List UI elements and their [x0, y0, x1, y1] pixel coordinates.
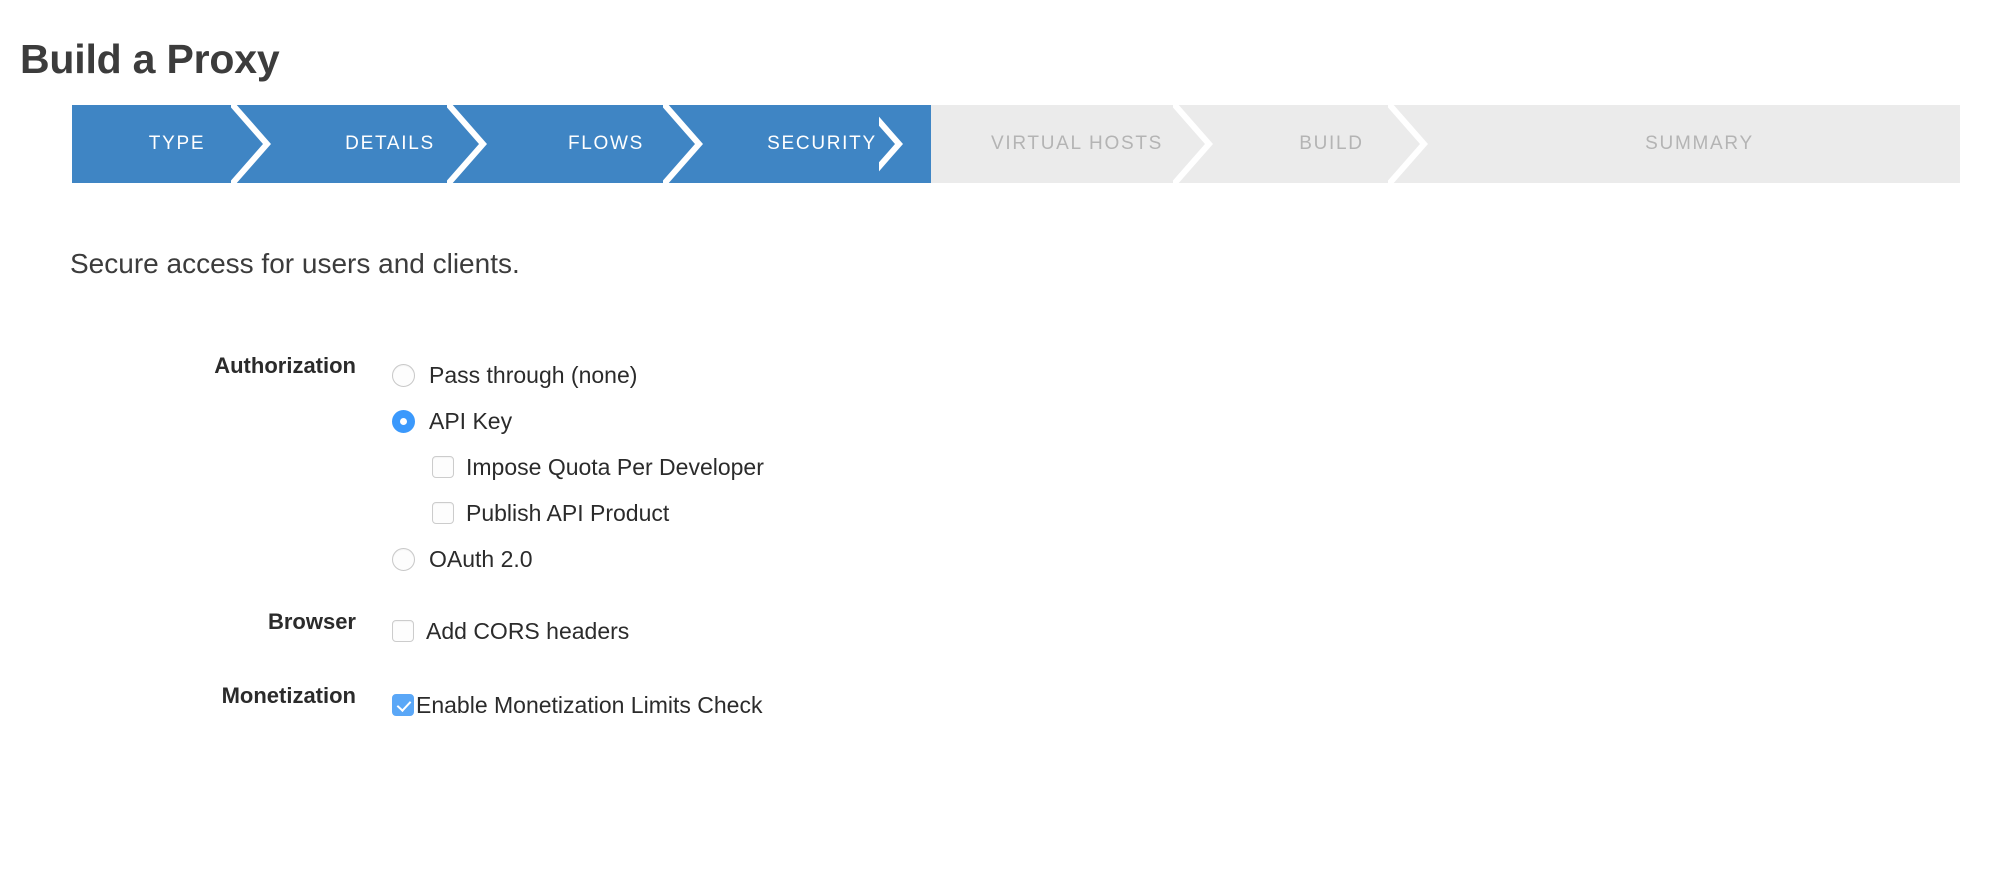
field-label-monetization: Monetization — [0, 682, 356, 710]
wizard-step-flows[interactable]: FLOWS — [498, 105, 714, 183]
option-label: Publish API Product — [466, 502, 669, 525]
field-label-authorization: Authorization — [0, 352, 356, 380]
radio-oauth-2-icon[interactable] — [392, 548, 415, 571]
wizard-step-summary[interactable]: SUMMARY — [1439, 105, 1960, 183]
security-form: Authorization Pass through (none) API Ke… — [0, 352, 2016, 728]
option-label: OAuth 2.0 — [429, 548, 533, 571]
option-enable-monetization-limits-check[interactable]: Enable Monetization Limits Check — [392, 682, 2016, 728]
field-control-authorization: Pass through (none) API Key Impose Quota… — [356, 352, 2016, 582]
checkbox-publish-api-product-icon[interactable] — [432, 502, 454, 524]
option-label: Pass through (none) — [429, 364, 637, 387]
option-label: Add CORS headers — [426, 620, 629, 643]
option-label: API Key — [429, 410, 512, 433]
wizard-step-label: SUMMARY — [1645, 133, 1754, 155]
chevron-right-icon — [231, 105, 283, 183]
wizard-step-build[interactable]: BUILD — [1224, 105, 1439, 183]
option-add-cors-headers[interactable]: Add CORS headers — [392, 608, 2016, 654]
option-oauth-2[interactable]: OAuth 2.0 — [392, 536, 2016, 582]
wizard-step-label: FLOWS — [568, 133, 644, 155]
checkbox-add-cors-headers-icon[interactable] — [392, 620, 414, 642]
chevron-right-icon — [1173, 105, 1225, 183]
option-api-key[interactable]: API Key — [392, 398, 2016, 444]
checkbox-impose-quota-icon[interactable] — [432, 456, 454, 478]
section-description: Secure access for users and clients. — [70, 248, 520, 280]
field-control-monetization: Enable Monetization Limits Check — [356, 682, 2016, 728]
radio-api-key-icon[interactable] — [392, 410, 415, 433]
option-impose-quota-per-developer[interactable]: Impose Quota Per Developer — [392, 444, 2016, 490]
wizard-step-label: DETAILS — [345, 133, 435, 155]
wizard-step-label: VIRTUAL HOSTS — [991, 133, 1163, 155]
chevron-right-icon — [447, 105, 499, 183]
wizard-step-label: BUILD — [1299, 133, 1363, 155]
wizard-step-label: TYPE — [149, 133, 205, 155]
form-spacer — [0, 654, 2016, 682]
field-control-browser: Add CORS headers — [356, 608, 2016, 654]
chevron-right-icon — [663, 105, 715, 183]
checkbox-enable-monetization-limits-check-icon[interactable] — [392, 694, 414, 716]
chevron-right-icon — [879, 105, 931, 183]
wizard-step-bar: TYPE DETAILS FLOWS SECURITY — [72, 105, 1960, 183]
option-label: Impose Quota Per Developer — [466, 456, 764, 479]
wizard-step-virtual-hosts[interactable]: VIRTUAL HOSTS — [930, 105, 1224, 183]
wizard-step-type[interactable]: TYPE — [72, 105, 282, 183]
option-publish-api-product[interactable]: Publish API Product — [392, 490, 2016, 536]
wizard-step-security[interactable]: SECURITY — [714, 105, 930, 183]
radio-pass-through-icon[interactable] — [392, 364, 415, 387]
option-pass-through[interactable]: Pass through (none) — [392, 352, 2016, 398]
field-row-authorization: Authorization Pass through (none) API Ke… — [0, 352, 2016, 582]
chevron-right-icon — [1388, 105, 1440, 183]
option-label: Enable Monetization Limits Check — [416, 694, 762, 717]
form-spacer — [0, 582, 2016, 608]
wizard-step-label: SECURITY — [767, 133, 877, 155]
page-title: Build a Proxy — [20, 35, 279, 84]
field-row-browser: Browser Add CORS headers — [0, 608, 2016, 654]
field-row-monetization: Monetization Enable Monetization Limits … — [0, 682, 2016, 728]
field-label-browser: Browser — [0, 608, 356, 636]
wizard-step-details[interactable]: DETAILS — [282, 105, 498, 183]
